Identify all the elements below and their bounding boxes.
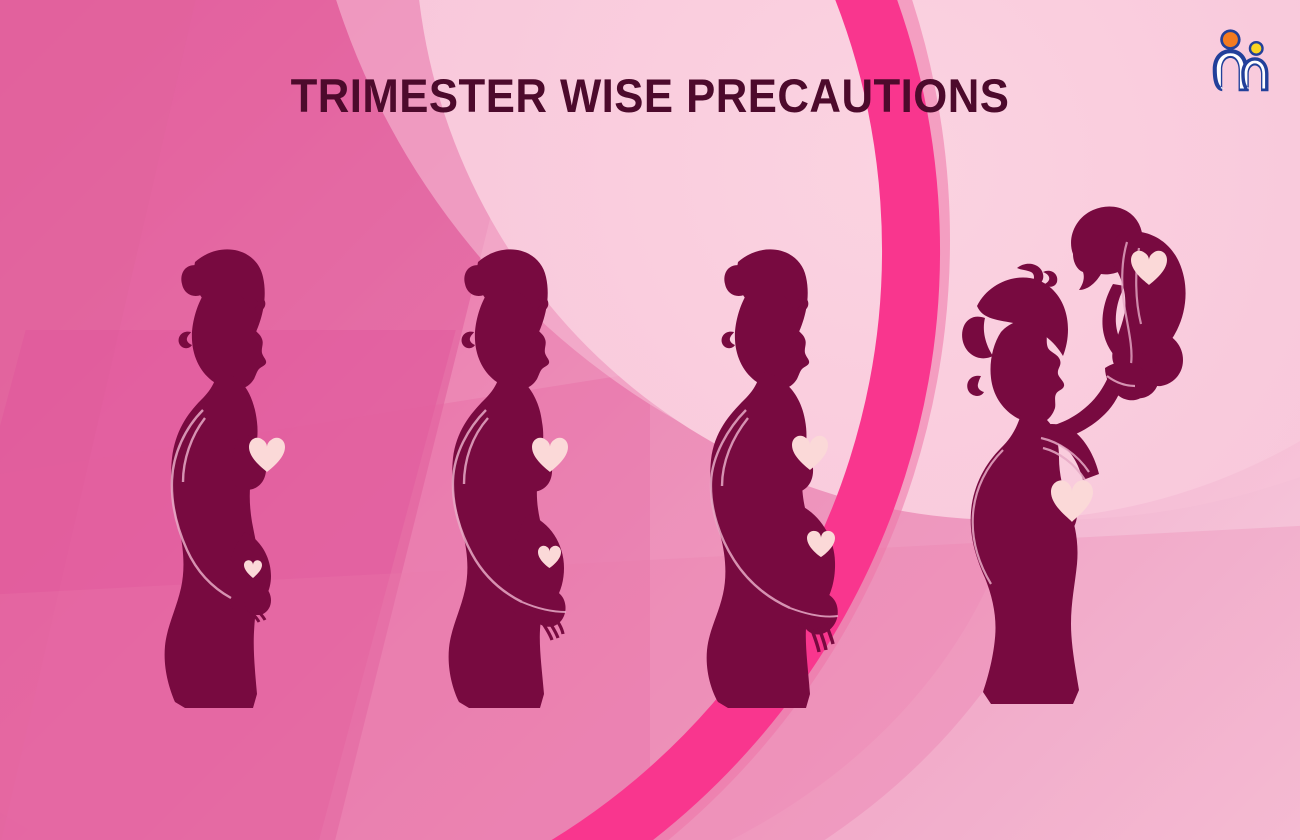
- birth-figure-icon: [955, 192, 1195, 710]
- stage-3-figure-icon: [688, 232, 888, 710]
- mother-holding-baby-silhouette[interactable]: [955, 192, 1195, 715]
- silhouette-group: [0, 0, 1300, 840]
- stage-label-row: 1 Trimester 2 Trimester 3 Trimester Birt…: [0, 720, 1300, 840]
- stage-2-figure-icon: [428, 232, 618, 710]
- pregnant-woman-silhouette-stage-2[interactable]: [428, 232, 618, 715]
- pregnant-woman-silhouette-stage-1[interactable]: [145, 232, 330, 715]
- stage-1-figure-icon: [145, 232, 330, 710]
- pregnant-woman-silhouette-stage-3[interactable]: [688, 232, 888, 715]
- poster-canvas: TRIMESTER WISE PRECAUTIONS: [0, 0, 1300, 840]
